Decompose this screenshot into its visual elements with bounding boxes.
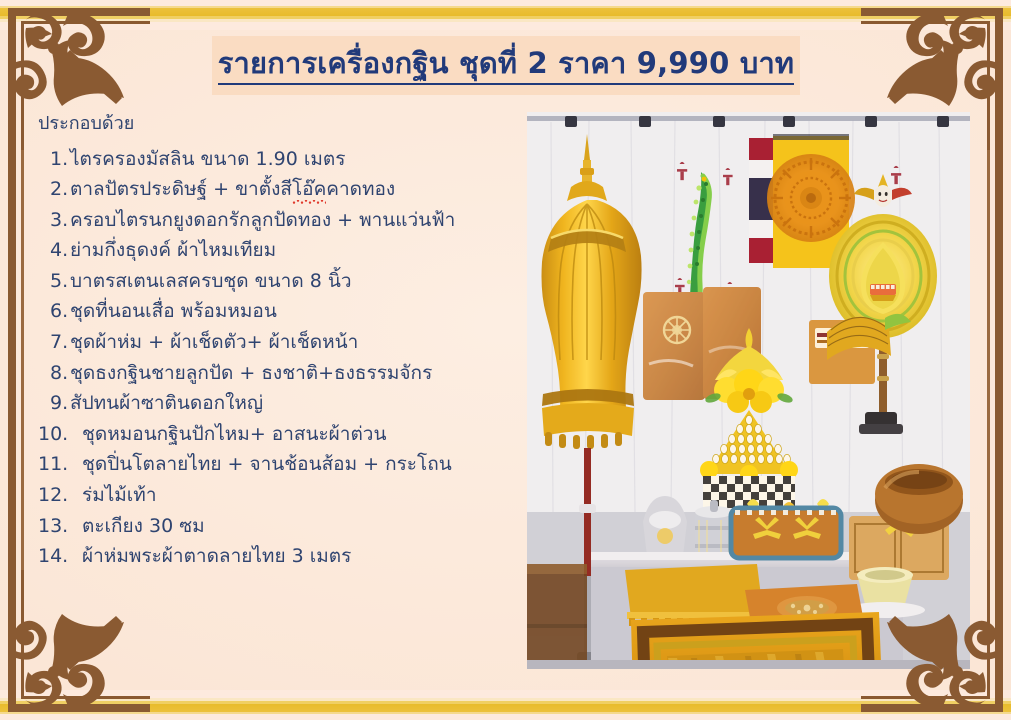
border-band-bottom [0, 690, 1011, 720]
list-item: 6. ชุดที่นอนเสื่อ พร้อมหมอน [36, 302, 526, 321]
list-item-number: 10. [36, 425, 82, 444]
list-item-label: ชุดหมอนกฐินปักไหม+ อาสนะผ้าต่วน [82, 425, 386, 444]
border-rule-right [981, 0, 1011, 720]
page-title: รายการเครื่องกฐิน ชุดที่ 2 ราคา 9,990 บา… [218, 46, 795, 84]
list-item-number: 12. [36, 486, 82, 505]
list-item: 11. ชุดปิ่นโตลายไทย + จานช้อนส้อม + กระโ… [36, 455, 526, 474]
list-item-number: 8. [36, 364, 70, 383]
list-item-number: 2. [36, 180, 70, 199]
list-item: 12. ร่มไม้เท้า [36, 486, 526, 505]
list-item: 8. ชุดธงกฐินชายลูกปัด + ธงชาติ+ธงธรรมจัก… [36, 364, 526, 383]
kathina-photo [527, 112, 970, 669]
list-item-label: ชุดปิ่นโตลายไทย + จานช้อนส้อม + กระโถน [82, 455, 452, 474]
list-item: 10. ชุดหมอนกฐินปักไหม+ อาสนะผ้าต่วน [36, 425, 526, 444]
list-item: 2. ตาลปัตรประดิษฐ์ + ขาตั้งสีโอ๊คคาดทอง [36, 180, 526, 199]
list-item-label: ตะเกียง 30 ซม [82, 517, 205, 536]
list-item-label: ร่มไม้เท้า [82, 486, 157, 505]
list-item-number: 3. [36, 211, 70, 230]
list-item: 4. ย่ามกึ่งธุดงค์ ผ้าไหมเทียม [36, 241, 526, 260]
list-item-number: 14. [36, 547, 82, 566]
list-item-label: ชุดผ้าห่ม + ผ้าเช็ดตัว+ ผ้าเช็ดหน้า [70, 333, 358, 352]
list-item-label: บาตรสเตนเลสครบชุด ขนาด 8 นิ้ว [70, 272, 351, 291]
list-item-number: 4. [36, 241, 70, 260]
content-column: ประกอบด้วย 1. ไตรครองมัสลิน ขนาด 1.90 เม… [36, 113, 526, 578]
list-item: 3. ครอบไตรนกยูงดอกรักลูกปัดทอง + พานแว่น… [36, 211, 526, 230]
list-item-number: 7. [36, 333, 70, 352]
list-item-text-after: คาดทอง [326, 178, 395, 200]
kathina-item-list: 1. ไตรครองมัสลิน ขนาด 1.90 เมตร 2. ตาลปั… [36, 150, 526, 567]
list-item-number: 13. [36, 517, 82, 536]
list-item: 9. สัปทนผ้าซาตินดอกใหญ่ [36, 394, 526, 413]
list-item-label: สัปทนผ้าซาตินดอกใหญ่ [70, 394, 263, 413]
title-plaque: รายการเครื่องกฐิน ชุดที่ 2 ราคา 9,990 บา… [212, 36, 800, 95]
border-band-top [0, 0, 1011, 30]
list-item-label: ตาลปัตรประดิษฐ์ + ขาตั้งสีโอ๊คคาดทอง [70, 180, 395, 199]
list-item: 5. บาตรสเตนเลสครบชุด ขนาด 8 นิ้ว [36, 272, 526, 291]
list-item: 7. ชุดผ้าห่ม + ผ้าเช็ดตัว+ ผ้าเช็ดหน้า [36, 333, 526, 352]
list-item-number: 6. [36, 302, 70, 321]
list-item-label: ครอบไตรนกยูงดอกรักลูกปัดทอง + พานแว่นฟ้า [70, 211, 455, 230]
list-item-text-before: ตาลปัตรประดิษฐ์ + ขาตั้งสี [70, 178, 292, 200]
list-item-label: ชุดธงกฐินชายลูกปัด + ธงชาติ+ธงธรรมจักร [70, 364, 432, 383]
list-item-label: ชุดที่นอนเสื่อ พร้อมหมอน [70, 302, 277, 321]
list-item: 13. ตะเกียง 30 ซม [36, 517, 526, 536]
list-item-number: 9. [36, 394, 70, 413]
list-item-label: ไตรครองมัสลิน ขนาด 1.90 เมตร [70, 150, 345, 169]
list-item-label: ย่ามกึ่งธุดงค์ ผ้าไหมเทียม [70, 241, 276, 260]
list-item: 1. ไตรครองมัสลิน ขนาด 1.90 เมตร [36, 150, 526, 169]
list-item-number: 5. [36, 272, 70, 291]
slide-canvas: รายการเครื่องกฐิน ชุดที่ 2 ราคา 9,990 บา… [0, 0, 1011, 720]
kathina-photo-artwork [527, 112, 970, 669]
list-item-number: 1. [36, 150, 70, 169]
spellcheck-flagged-word: โอ๊ค [292, 178, 326, 204]
border-rule-left [0, 0, 30, 720]
kathina-photo-image [527, 112, 970, 669]
list-item: 14. ผ้าห่มพระผ้าตาดลายไทย 3 เมตร [36, 547, 526, 566]
list-item-label: ผ้าห่มพระผ้าตาดลายไทย 3 เมตร [82, 547, 351, 566]
intro-label: ประกอบด้วย [38, 113, 526, 136]
list-item-number: 11. [36, 455, 82, 474]
